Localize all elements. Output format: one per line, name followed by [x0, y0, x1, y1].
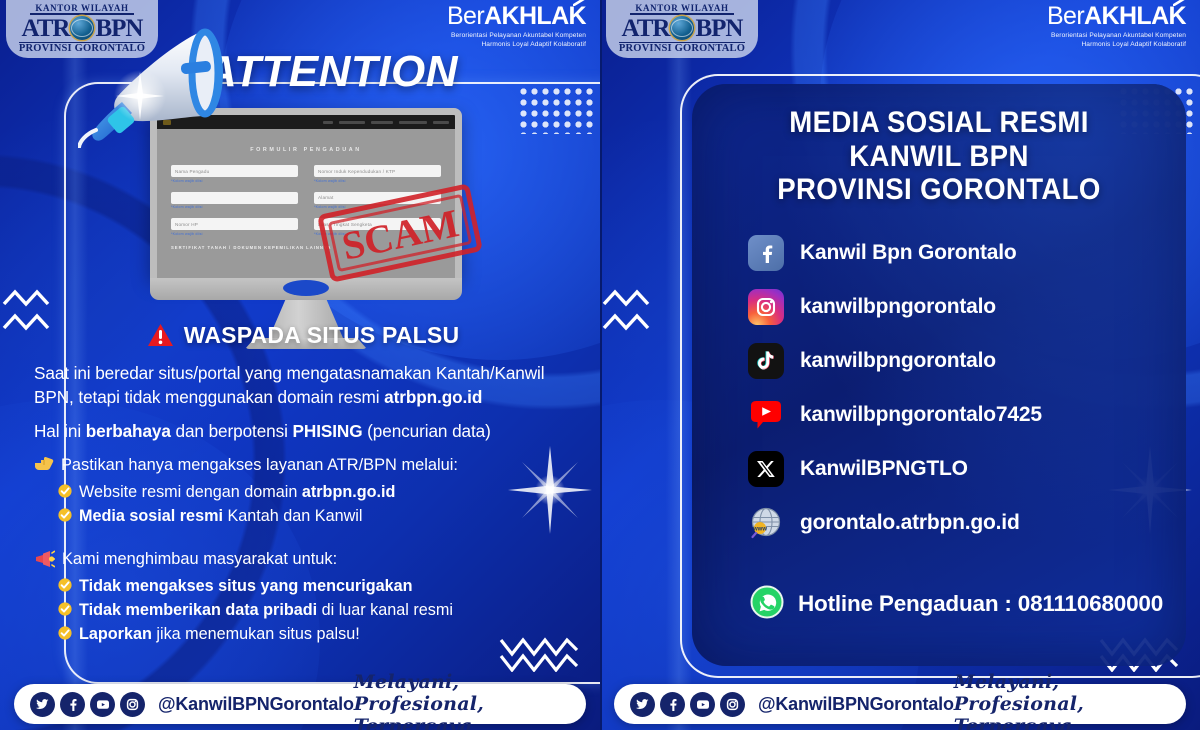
- social-item-instagram[interactable]: kanwilbpngorontalo: [748, 289, 1186, 325]
- item-text: di luar kanal resmi: [317, 601, 453, 619]
- mockup-hint: *Kolom wajib diisi: [171, 179, 298, 183]
- left-panel-content: WASPADA SITUS PALSU Saat ini beredar sit…: [0, 322, 600, 646]
- globe-www-icon[interactable]: www: [748, 505, 784, 541]
- alert-heading: WASPADA SITUS PALSU: [34, 322, 572, 349]
- berakhlak-prefix: Ber: [1047, 2, 1084, 30]
- item-text: Kantah dan Kanwil: [223, 507, 363, 525]
- footer-handle: @KanwilBPNGorontalo: [158, 694, 354, 715]
- mockup-hint: *Kolom wajib diisi: [171, 232, 298, 236]
- berakhlak-main: AKHLAK: [1084, 2, 1186, 30]
- berakhlak-wordmark: BerAKHLAK: [1047, 4, 1186, 29]
- globe-icon: [70, 16, 94, 40]
- poster-canvas: KANTOR WILAYAH ATR BPN PROVINSI GORONTAL…: [0, 0, 1200, 730]
- berakhlak-subtitle-1: Berorientasi Pelayanan Akuntabel Kompete…: [447, 32, 586, 41]
- instagram-icon[interactable]: [720, 692, 745, 717]
- social-handle-instagram: kanwilbpngorontalo: [800, 295, 996, 319]
- berakhlak-main: AKHLAK: [484, 2, 586, 30]
- right-footer-bar: @KanwilBPNGorontalo Melayani, Profesiona…: [614, 684, 1186, 724]
- hotline-text: Hotline Pengaduan : 081110680000: [798, 591, 1163, 617]
- check-circle-icon: [58, 508, 72, 522]
- bullet-list-1: Website resmi dengan domain atrbpn.go.id…: [58, 481, 572, 529]
- mockup-form-field: *Kolom wajib diisi: [171, 192, 298, 210]
- logo-atrbpn-row: ATR BPN: [622, 16, 743, 41]
- item-text: Website resmi dengan domain: [79, 483, 302, 501]
- section-lead-text: Kami menghimbau masyarakat untuk:: [62, 549, 337, 570]
- x-twitter-icon[interactable]: [748, 451, 784, 487]
- paragraph-text: Hal ini: [34, 421, 86, 441]
- berakhlak-prefix: Ber: [447, 2, 484, 30]
- logo-atrbpn-row: ATR BPN: [22, 16, 143, 41]
- youtube-icon[interactable]: [748, 397, 784, 433]
- alert-title: WASPADA SITUS PALSU: [184, 322, 460, 349]
- mockup-form-field: Nomor Induk Kependudukan / KTP *Kolom wa…: [314, 165, 441, 183]
- facebook-icon[interactable]: [748, 235, 784, 271]
- atr-bpn-logo: KANTOR WILAYAH ATR BPN PROVINSI GORONTAL…: [6, 0, 158, 58]
- check-circle-icon: [58, 578, 72, 592]
- mockup-nav-item: [399, 121, 427, 124]
- footer-tagline: Melayani, Profesional, Terpercaya: [954, 671, 1170, 730]
- logo-kantor-wilayah-text: KANTOR WILAYAH: [635, 4, 728, 13]
- social-handle-x: KanwilBPNGTLO: [800, 457, 968, 481]
- list-item-text: Tidak mengakses situs yang mencurigakan: [79, 575, 412, 599]
- section-spacer: [34, 529, 572, 545]
- facebook-icon[interactable]: [660, 692, 685, 717]
- instagram-icon[interactable]: [120, 692, 145, 717]
- section-lead-text: Pastikan hanya mengakses layanan ATR/BPN…: [61, 455, 458, 476]
- logo-atr-text: ATR: [622, 16, 670, 41]
- whatsapp-icon[interactable]: [750, 585, 784, 624]
- berakhlak-logo: BerAKHLAK Berorientasi Pelayanan Akuntab…: [1047, 4, 1186, 49]
- berakhlak-swoosh-icon: [1173, 0, 1188, 6]
- tiktok-icon[interactable]: [748, 343, 784, 379]
- list-item: Media sosial resmi Kantah dan Kanwil: [58, 505, 572, 529]
- check-circle-icon: [58, 484, 72, 498]
- berakhlak-subtitle-1: Berorientasi Pelayanan Akuntabel Kompete…: [1047, 32, 1186, 41]
- check-circle-icon: [58, 626, 72, 640]
- list-item-text: Website resmi dengan domain atrbpn.go.id: [79, 481, 395, 505]
- list-item: Tidak memberikan data pribadi di luar ka…: [58, 599, 572, 623]
- social-item-website[interactable]: www gorontalo.atrbpn.go.id: [748, 505, 1186, 541]
- mockup-form-field: Nomor HP *Kolom wajib diisi: [171, 218, 298, 236]
- mockup-nav-item: [371, 121, 393, 124]
- item-emphasis: Media sosial resmi: [79, 507, 223, 525]
- mockup-nav-item: [323, 121, 333, 124]
- list-item: Tidak mengakses situs yang mencurigakan: [58, 575, 572, 599]
- pointing-hand-icon: [34, 456, 54, 473]
- paragraph-text: dan berpotensi: [171, 421, 293, 441]
- paragraph-emphasis: PHISING: [293, 421, 363, 441]
- monitor-logo-dot: [283, 280, 329, 296]
- list-item-text: Media sosial resmi Kantah dan Kanwil: [79, 505, 362, 529]
- logo-provinsi-text: PROVINSI GORONTALO: [19, 42, 145, 55]
- mockup-form-field: Nama Pengadu *Kolom wajib diisi: [171, 165, 298, 183]
- mockup-hint: *Kolom wajib diisi: [171, 205, 298, 209]
- berakhlak-swoosh-icon: [573, 0, 588, 6]
- mockup-hint: *Kolom wajib diisi: [314, 179, 441, 183]
- social-handle-facebook: Kanwil Bpn Gorontalo: [800, 241, 1017, 265]
- footer-social-icons: [630, 692, 745, 717]
- megaphone-small-icon: [34, 550, 55, 568]
- social-item-x[interactable]: KanwilBPNGTLO: [748, 451, 1186, 487]
- twitter-icon[interactable]: [30, 692, 55, 717]
- social-media-title-line2: PROVINSI GORONTALO: [736, 173, 1143, 207]
- atr-bpn-logo: KANTOR WILAYAH ATR BPN PROVINSI GORONTAL…: [606, 0, 758, 58]
- warning-paragraph-1: Saat ini beredar situs/portal yang menga…: [34, 362, 572, 409]
- list-item: Laporkan jika menemukan situs palsu!: [58, 623, 572, 647]
- mockup-input-nama: Nama Pengadu: [171, 165, 298, 177]
- list-item-text: Tidak memberikan data pribadi di luar ka…: [79, 599, 453, 623]
- svg-text:www: www: [752, 526, 767, 532]
- mockup-nav-item: [433, 121, 449, 124]
- panel-separator: [600, 0, 602, 730]
- item-emphasis: Tidak mengakses situs yang mencurigakan: [79, 577, 412, 595]
- left-footer-bar: @KanwilBPNGorontalo Melayani, Profesiona…: [14, 684, 586, 724]
- footer-social-icons: [30, 692, 145, 717]
- list-item-text: Laporkan jika menemukan situs palsu!: [79, 623, 360, 647]
- warning-paragraph-2: Hal ini berbahaya dan berpotensi PHISING…: [34, 420, 572, 444]
- logo-provinsi-text: PROVINSI GORONTALO: [619, 42, 745, 55]
- item-emphasis: atrbpn.go.id: [302, 483, 396, 501]
- social-item-facebook[interactable]: Kanwil Bpn Gorontalo: [748, 235, 1186, 271]
- berakhlak-subtitle-2: Harmonis Loyal Adaptif Kolaboratif: [447, 41, 586, 50]
- logo-bpn-text: BPN: [95, 16, 142, 41]
- check-circle-icon: [58, 602, 72, 616]
- social-media-title: MEDIA SOSIAL RESMI KANWIL BPN PROVINSI G…: [712, 84, 1166, 207]
- left-poster-panel: KANTOR WILAYAH ATR BPN PROVINSI GORONTAL…: [0, 0, 600, 730]
- social-item-youtube[interactable]: kanwilbpngorontalo7425: [748, 397, 1186, 433]
- item-emphasis: Laporkan: [79, 625, 152, 643]
- social-handle-website: gorontalo.atrbpn.go.id: [800, 511, 1020, 535]
- youtube-icon[interactable]: [690, 692, 715, 717]
- social-media-title-line1: MEDIA SOSIAL RESMI KANWIL BPN: [736, 106, 1143, 173]
- paragraph-domain: atrbpn.go.id: [384, 387, 482, 407]
- social-item-tiktok[interactable]: kanwilbpngorontalo: [748, 343, 1186, 379]
- social-media-card: MEDIA SOSIAL RESMI KANWIL BPN PROVINSI G…: [692, 84, 1186, 666]
- social-handle-youtube: kanwilbpngorontalo7425: [800, 403, 1042, 427]
- mockup-nav-item: [339, 121, 365, 124]
- bullet-list-2: Tidak mengakses situs yang mencurigakan …: [58, 575, 572, 646]
- mockup-input-nomorhp: Nomor HP: [171, 218, 298, 230]
- footer-tagline: Melayani, Profesional, Terpercaya: [354, 671, 570, 730]
- footer-handle: @KanwilBPNGorontalo: [758, 694, 954, 715]
- twitter-icon[interactable]: [630, 692, 655, 717]
- facebook-icon[interactable]: [60, 692, 85, 717]
- section-lead-1: Pastikan hanya mengakses layanan ATR/BPN…: [34, 455, 572, 476]
- logo-atr-text: ATR: [22, 16, 70, 41]
- mockup-input-blank: [171, 192, 298, 204]
- youtube-icon[interactable]: [90, 692, 115, 717]
- monitor-chin: [150, 278, 462, 300]
- hotline-row[interactable]: Hotline Pengaduan : 081110680000: [750, 585, 1186, 624]
- right-poster-panel: MEDIA SOSIAL RESMI KANWIL BPN PROVINSI G…: [600, 0, 1200, 730]
- social-media-list: Kanwil Bpn Gorontalo kanwilbpngorontalo: [748, 235, 1186, 541]
- paragraph-emphasis: berbahaya: [86, 421, 171, 441]
- globe-icon: [670, 16, 694, 40]
- list-item: Website resmi dengan domain atrbpn.go.id: [58, 481, 572, 505]
- mockup-form-row: Nama Pengadu *Kolom wajib diisi Nomor In…: [171, 165, 441, 183]
- berakhlak-wordmark: BerAKHLAK: [447, 4, 586, 29]
- mockup-input-nik: Nomor Induk Kependudukan / KTP: [314, 165, 441, 177]
- paragraph-text: (pencurian data): [363, 421, 491, 441]
- social-handle-tiktok: kanwilbpngorontalo: [800, 349, 996, 373]
- logo-bpn-text: BPN: [695, 16, 742, 41]
- berakhlak-logo: BerAKHLAK Berorientasi Pelayanan Akuntab…: [447, 4, 586, 49]
- zigzag-decoration-left: [602, 288, 654, 350]
- section-lead-2: Kami menghimbau masyarakat untuk:: [34, 549, 572, 570]
- berakhlak-subtitle-2: Harmonis Loyal Adaptif Kolaboratif: [1047, 41, 1186, 50]
- instagram-icon[interactable]: [748, 289, 784, 325]
- item-text: jika menemukan situs palsu!: [152, 625, 360, 643]
- item-emphasis: Tidak memberikan data pribadi: [79, 601, 317, 619]
- warning-triangle-icon: [147, 323, 174, 348]
- logo-kantor-wilayah-text: KANTOR WILAYAH: [35, 4, 128, 13]
